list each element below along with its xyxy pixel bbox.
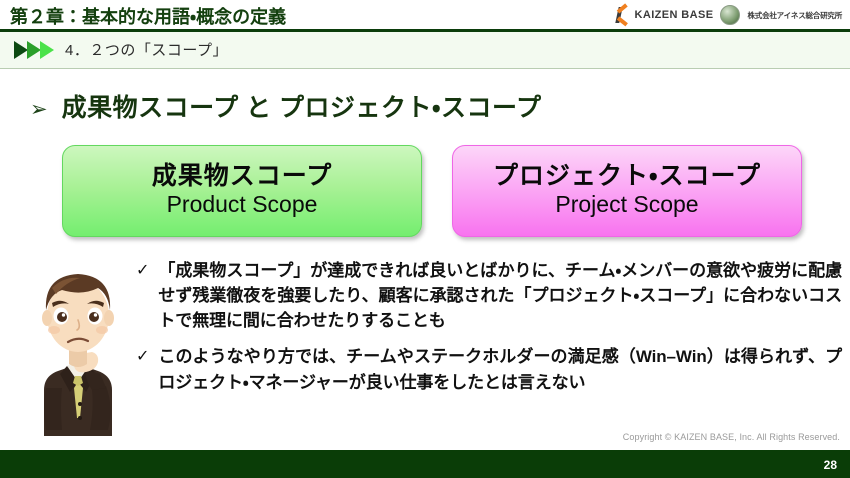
check-bullet-icon: ✓ — [136, 258, 149, 283]
bullet-text: 「成果物スコープ」が達成できれば良いとばかりに、チーム・メンバーの意欲や疲労に配… — [158, 258, 842, 333]
section-heading-text: 成果物スコープ と プロジェクト・スコープ — [62, 88, 542, 124]
copyright-notice: Copyright © KAIZEN BASE, Inc. All Rights… — [623, 432, 840, 442]
arrow-bullet-icon: ➢ — [30, 99, 48, 120]
kaizen-base-logo-icon — [612, 7, 628, 23]
triple-chevron-icon — [14, 41, 60, 59]
project-scope-box: プロジェクト・スコープ Project Scope — [452, 145, 802, 237]
project-scope-label-ja: プロジェクト・スコープ — [493, 163, 761, 191]
product-scope-box: 成果物スコープ Product Scope — [62, 145, 422, 237]
section-subtitle-bar: 4．２つの「スコープ」 — [0, 32, 850, 69]
kaizen-base-wordmark: KAIZEN BASE — [635, 9, 714, 21]
subtitle-label: 4．２つの「スコープ」 — [65, 39, 228, 60]
page-title: 第２章：基本的な用語・概念の定義 — [10, 3, 286, 29]
page-number: 28 — [824, 458, 837, 472]
partner-company-name: 株式会社アイネス総合研究所 — [747, 10, 842, 21]
footer-bar — [0, 450, 850, 478]
product-scope-label-en: Product Scope — [167, 191, 318, 219]
section-heading: ➢ 成果物スコープ と プロジェクト・スコープ — [30, 88, 542, 124]
project-scope-label-en: Project Scope — [555, 191, 698, 219]
product-scope-label-ja: 成果物スコープ — [152, 163, 333, 191]
check-bullet-icon: ✓ — [136, 344, 149, 369]
slide-header: 第２章：基本的な用語・概念の定義 KAIZEN BASE 株式会社アイネス総合研… — [0, 0, 850, 31]
list-item: ✓ このようなやり方では、チームやステークホルダーの満足感（Win–Win）は得… — [136, 344, 842, 394]
list-item: ✓ 「成果物スコープ」が達成できれば良いとばかりに、チーム・メンバーの意欲や疲労… — [136, 258, 842, 333]
bullet-text: このようなやり方では、チームやステークホルダーの満足感（Win–Win）は得られ… — [158, 344, 842, 394]
businessman-thinking-illustration — [22, 258, 134, 436]
brand-cluster: KAIZEN BASE 株式会社アイネス総合研究所 — [612, 5, 843, 25]
ines-logo-icon — [720, 5, 740, 25]
bullet-list: ✓ 「成果物スコープ」が達成できれば良いとばかりに、チーム・メンバーの意欲や疲労… — [136, 258, 842, 406]
